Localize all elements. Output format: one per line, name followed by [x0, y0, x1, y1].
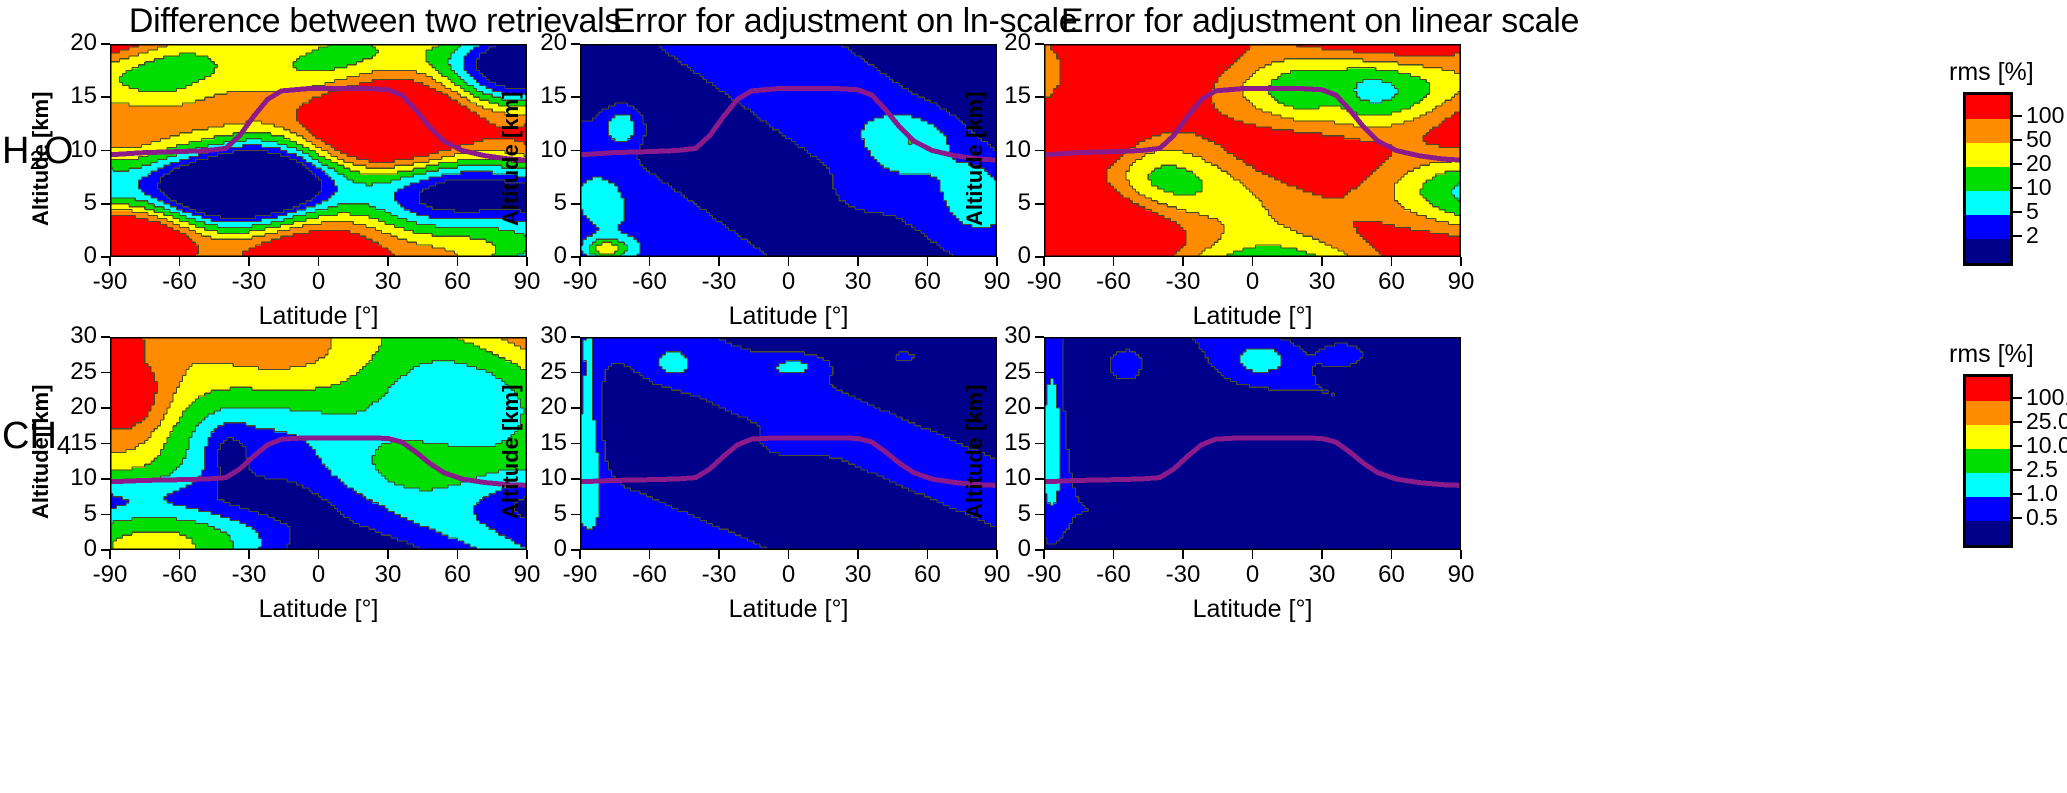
ytick-mark: [571, 514, 580, 516]
xtick-label: -90: [1014, 561, 1074, 589]
xtick-label: 90: [497, 561, 557, 589]
colorbar-tick: [2010, 235, 2022, 237]
colorbar-tick: [2010, 139, 2022, 141]
xtick-mark: [109, 550, 111, 559]
xtick-label: -60: [150, 561, 210, 589]
xtick-mark: [579, 257, 581, 266]
xtick-label: 60: [898, 268, 958, 296]
colorbar-segment: [1966, 425, 2010, 449]
colorbar-segment: [1966, 239, 2010, 263]
ytick-mark: [101, 549, 110, 551]
xtick-label: -60: [1084, 268, 1144, 296]
xtick-label: 0: [289, 561, 349, 589]
panel-ch4-linear-error: [1044, 337, 1461, 550]
colorbar-tick-label: 100.0: [2026, 384, 2067, 411]
ytick-label: 30: [42, 322, 97, 350]
colorbar-tick: [2010, 469, 2022, 471]
ytick-mark: [1035, 478, 1044, 480]
xtick-label: 0: [759, 268, 819, 296]
ytick-mark: [571, 96, 580, 98]
xtick-label: -60: [620, 268, 680, 296]
xtick-label: 60: [1362, 268, 1422, 296]
colorbar-segment: [1966, 95, 2010, 119]
colorbar-tick-label: 50: [2026, 126, 2052, 153]
ytick-mark: [101, 372, 110, 374]
ytick-mark: [1035, 256, 1044, 258]
xtick-mark: [318, 550, 320, 559]
colorbar-tick-label: 5: [2026, 198, 2039, 225]
colorbar-tick: [2010, 517, 2022, 519]
xtick-mark: [1043, 257, 1045, 266]
y-axis-label: Altitude [km]: [28, 384, 54, 518]
y-axis-label: Altitude [km]: [962, 91, 988, 225]
xtick-label: -30: [1153, 561, 1213, 589]
ytick-mark: [101, 478, 110, 480]
xtick-mark: [927, 257, 929, 266]
xtick-label: 60: [1362, 561, 1422, 589]
colorbar-h2o-title: rms [%]: [1949, 58, 2034, 87]
xtick-mark: [788, 550, 790, 559]
ytick-mark: [1035, 43, 1044, 45]
colorbar-tick: [2010, 115, 2022, 117]
colorbar-tick: [2010, 187, 2022, 189]
xtick-mark: [1391, 257, 1393, 266]
ytick-mark: [571, 478, 580, 480]
xtick-label: 90: [497, 268, 557, 296]
y-axis-label: Altitude [km]: [962, 384, 988, 518]
colorbar-tick-label: 2: [2026, 222, 2039, 249]
colorbar-tick: [2010, 397, 2022, 399]
x-axis-label: Latitude [°]: [1044, 302, 1461, 331]
xtick-mark: [1252, 257, 1254, 266]
xtick-mark: [1321, 550, 1323, 559]
xtick-mark: [1113, 257, 1115, 266]
ytick-label: 20: [42, 29, 97, 57]
colorbar-segment: [1966, 401, 2010, 425]
xtick-label: 0: [289, 268, 349, 296]
colorbar-tick-label: 25.0: [2026, 408, 2067, 435]
colorbar-segment: [1966, 215, 2010, 239]
xtick-mark: [857, 550, 859, 559]
ytick-label: 0: [976, 535, 1031, 563]
xtick-label: 60: [428, 268, 488, 296]
xtick-label: -90: [550, 561, 610, 589]
panel-ch4-difference: [110, 337, 527, 550]
xtick-mark: [179, 257, 181, 266]
ytick-mark: [571, 203, 580, 205]
ytick-mark: [1035, 407, 1044, 409]
xtick-label: -90: [80, 268, 140, 296]
ytick-mark: [101, 150, 110, 152]
ytick-mark: [1035, 443, 1044, 445]
ytick-mark: [101, 443, 110, 445]
xtick-label: -30: [219, 561, 279, 589]
ytick-mark: [571, 256, 580, 258]
panel-ch4-ln-error: [580, 337, 997, 550]
colorbar-tick-label: 20: [2026, 150, 2052, 177]
xtick-mark: [387, 257, 389, 266]
xtick-mark: [1113, 550, 1115, 559]
ytick-label: 20: [512, 29, 567, 57]
ytick-mark: [571, 336, 580, 338]
row-label-h2o-text: H: [2, 130, 29, 172]
x-axis-label: Latitude [°]: [110, 595, 527, 624]
ytick-label: 0: [42, 535, 97, 563]
ytick-label: 0: [512, 242, 567, 270]
xtick-label: 0: [1223, 561, 1283, 589]
xtick-label: -90: [550, 268, 610, 296]
y-axis-label: Altitude [km]: [28, 91, 54, 225]
xtick-mark: [718, 257, 720, 266]
colorbar-tick: [2010, 445, 2022, 447]
xtick-label: 0: [1223, 268, 1283, 296]
ytick-mark: [1035, 203, 1044, 205]
xtick-mark: [248, 257, 250, 266]
ytick-mark: [571, 43, 580, 45]
xtick-label: -30: [689, 561, 749, 589]
xtick-label: 30: [1292, 268, 1352, 296]
ytick-label: 0: [976, 242, 1031, 270]
colorbar-segment: [1966, 449, 2010, 473]
ytick-label: 30: [512, 322, 567, 350]
colorbar-h2o: [1963, 92, 2013, 266]
colorbar-ch4: [1963, 374, 2013, 548]
ytick-mark: [571, 407, 580, 409]
x-axis-label: Latitude [°]: [580, 302, 997, 331]
colorbar-segment: [1966, 119, 2010, 143]
xtick-label: 60: [898, 561, 958, 589]
xtick-mark: [718, 550, 720, 559]
x-axis-label: Latitude [°]: [580, 595, 997, 624]
xtick-mark: [318, 257, 320, 266]
xtick-mark: [248, 550, 250, 559]
xtick-mark: [1460, 257, 1462, 266]
xtick-label: 60: [428, 561, 488, 589]
ytick-mark: [101, 407, 110, 409]
ytick-mark: [1035, 514, 1044, 516]
xtick-mark: [927, 550, 929, 559]
xtick-label: 30: [358, 561, 418, 589]
colorbar-tick: [2010, 211, 2022, 213]
xtick-mark: [649, 550, 651, 559]
xtick-mark: [1321, 257, 1323, 266]
xtick-label: -30: [1153, 268, 1213, 296]
xtick-label: 30: [1292, 561, 1352, 589]
colorbar-segment: [1966, 377, 2010, 401]
xtick-label: 90: [1431, 561, 1491, 589]
xtick-label: -30: [219, 268, 279, 296]
ytick-mark: [1035, 372, 1044, 374]
colorbar-segment: [1966, 143, 2010, 167]
colorbar-tick-label: 10: [2026, 174, 2052, 201]
xtick-mark: [387, 550, 389, 559]
ytick-label: 25: [512, 358, 567, 386]
colorbar-tick: [2010, 493, 2022, 495]
xtick-label: 30: [828, 268, 888, 296]
x-axis-label: Latitude [°]: [1044, 595, 1461, 624]
xtick-mark: [649, 257, 651, 266]
ytick-mark: [1035, 96, 1044, 98]
ytick-label: 20: [976, 29, 1031, 57]
colorbar-tick-label: 1.0: [2026, 480, 2058, 507]
xtick-mark: [1460, 550, 1462, 559]
column-title-3: Error for adjustment on linear scale: [1040, 2, 1600, 41]
ytick-mark: [571, 549, 580, 551]
xtick-mark: [1043, 550, 1045, 559]
xtick-mark: [1182, 550, 1184, 559]
ytick-label: 0: [42, 242, 97, 270]
colorbar-segment: [1966, 473, 2010, 497]
xtick-label: -60: [620, 561, 680, 589]
x-axis-label: Latitude [°]: [110, 302, 527, 331]
panel-h2o-difference: [110, 44, 527, 257]
xtick-mark: [1391, 550, 1393, 559]
ytick-mark: [101, 256, 110, 258]
ytick-label: 30: [976, 322, 1031, 350]
ytick-mark: [1035, 150, 1044, 152]
xtick-mark: [788, 257, 790, 266]
colorbar-segment: [1966, 191, 2010, 215]
figure-root: Difference between two retrievals Error …: [0, 0, 2067, 793]
colorbar-tick-label: 2.5: [2026, 456, 2058, 483]
ytick-label: 25: [976, 358, 1031, 386]
xtick-label: -90: [80, 561, 140, 589]
colorbar-tick: [2010, 163, 2022, 165]
colorbar-tick-label: 0.5: [2026, 504, 2058, 531]
ytick-mark: [101, 96, 110, 98]
xtick-mark: [1252, 550, 1254, 559]
ytick-mark: [1035, 549, 1044, 551]
xtick-mark: [179, 550, 181, 559]
ytick-mark: [1035, 336, 1044, 338]
ytick-label: 25: [42, 358, 97, 386]
xtick-label: -90: [1014, 268, 1074, 296]
ytick-mark: [101, 203, 110, 205]
ytick-mark: [571, 372, 580, 374]
xtick-mark: [1182, 257, 1184, 266]
xtick-label: 90: [1431, 268, 1491, 296]
panel-h2o-linear-error: [1044, 44, 1461, 257]
xtick-label: 0: [759, 561, 819, 589]
xtick-label: -60: [1084, 561, 1144, 589]
xtick-mark: [857, 257, 859, 266]
ytick-label: 0: [512, 535, 567, 563]
colorbar-ch4-title: rms [%]: [1949, 340, 2034, 369]
ytick-mark: [101, 43, 110, 45]
ytick-mark: [571, 443, 580, 445]
colorbar-tick: [2010, 421, 2022, 423]
colorbar-segment: [1966, 167, 2010, 191]
xtick-mark: [579, 550, 581, 559]
xtick-label: -30: [689, 268, 749, 296]
colorbar-segment: [1966, 521, 2010, 545]
xtick-mark: [457, 257, 459, 266]
xtick-mark: [109, 257, 111, 266]
y-axis-label: Altitude [km]: [498, 91, 524, 225]
y-axis-label: Altitude [km]: [498, 384, 524, 518]
xtick-mark: [457, 550, 459, 559]
ytick-mark: [101, 514, 110, 516]
xtick-label: -60: [150, 268, 210, 296]
xtick-label: 30: [828, 561, 888, 589]
colorbar-tick-label: 100: [2026, 102, 2064, 129]
colorbar-tick-label: 10.0: [2026, 432, 2067, 459]
xtick-label: 30: [358, 268, 418, 296]
ytick-mark: [571, 150, 580, 152]
colorbar-segment: [1966, 497, 2010, 521]
ytick-mark: [101, 336, 110, 338]
panel-h2o-ln-error: [580, 44, 997, 257]
